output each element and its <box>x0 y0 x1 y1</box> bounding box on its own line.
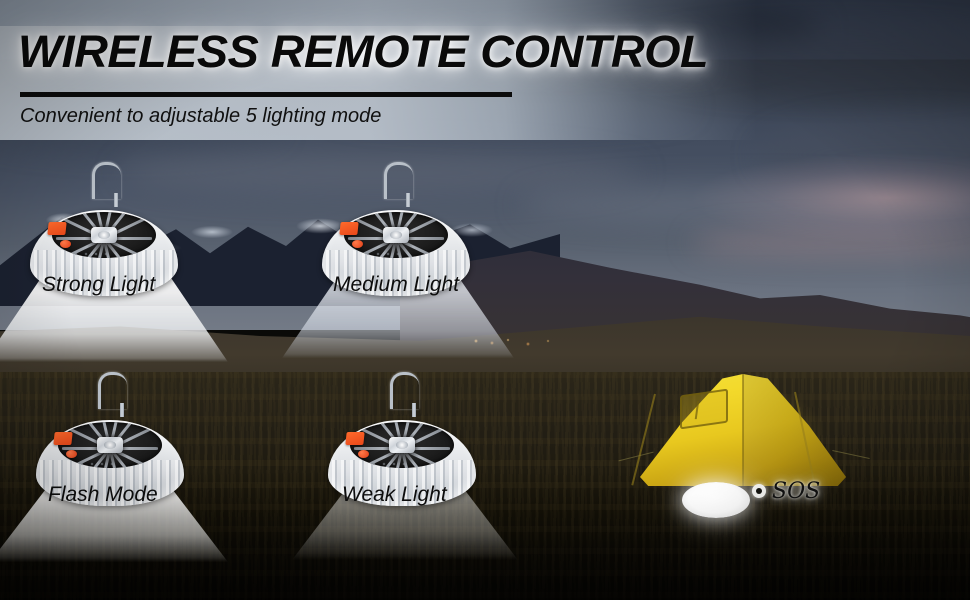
sos-bullet-icon <box>752 484 766 498</box>
tent-window <box>680 389 728 430</box>
indicator-dots-icon <box>372 462 406 466</box>
hook-icon <box>98 372 127 409</box>
indicator-dots-icon <box>80 462 114 466</box>
mode-label-weak: Weak Light <box>342 483 447 507</box>
title-divider <box>20 92 512 97</box>
mode-label-flash: Flash Mode <box>48 483 158 507</box>
mode-label-medium: Medium Light <box>333 273 459 297</box>
orange-solar-cell <box>47 222 66 235</box>
red-power-button[interactable] <box>66 450 77 458</box>
center-hub <box>91 227 117 243</box>
red-power-button[interactable] <box>60 240 71 248</box>
banner-top-shade <box>0 0 700 26</box>
hook-icon <box>390 372 419 409</box>
red-power-button[interactable] <box>358 450 369 458</box>
orange-solar-cell <box>345 432 364 445</box>
center-hub <box>97 437 123 453</box>
orange-solar-cell <box>53 432 72 445</box>
orange-solar-cell <box>339 222 358 235</box>
center-hub <box>389 437 415 453</box>
page-title: WIRELESS REMOTE CONTROL <box>18 26 708 78</box>
page-subtitle: Convenient to adjustable 5 lighting mode <box>20 105 381 128</box>
mode-label-strong: Strong Light <box>42 273 155 297</box>
red-power-button[interactable] <box>352 240 363 248</box>
sos-lamp-glow <box>682 482 750 518</box>
indicator-dots-icon <box>74 252 108 256</box>
product-marketing-image: SOS <box>0 0 970 600</box>
hook-icon <box>92 162 121 199</box>
mode-label-sos: SOS <box>772 479 820 504</box>
tent-seam <box>742 374 744 486</box>
hook-icon <box>384 162 413 199</box>
center-hub <box>383 227 409 243</box>
tent <box>618 358 868 508</box>
indicator-dots-icon <box>366 252 400 256</box>
